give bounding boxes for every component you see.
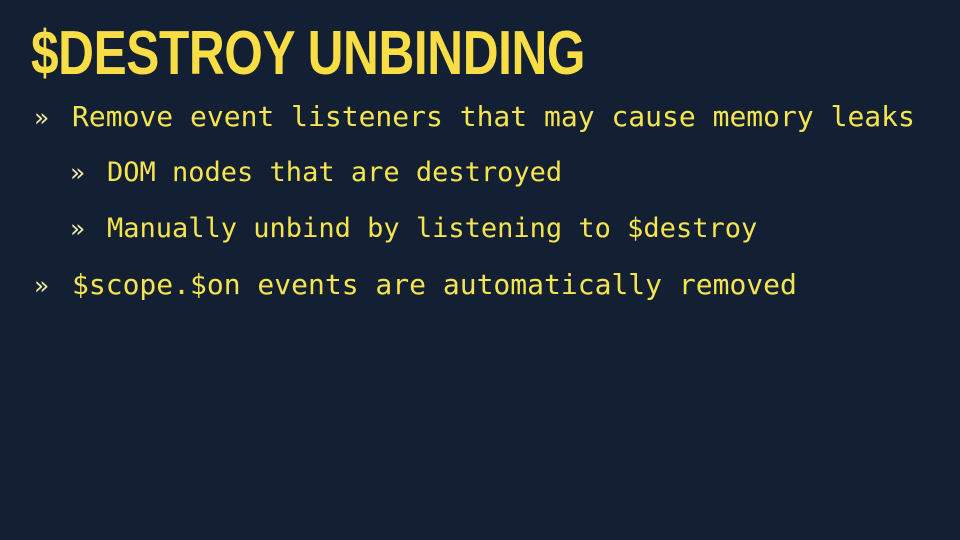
bullet-marker-icon: » <box>34 272 72 300</box>
presentation-slide: $destroy unbinding » Remove event listen… <box>0 0 960 540</box>
list-item-label: $scope.$on events are automatically remo… <box>72 270 797 300</box>
list-item: » $scope.$on events are automatically re… <box>0 270 960 326</box>
list-item-label: Remove event listeners that may cause me… <box>72 102 915 132</box>
list-item: » DOM nodes that are destroyed <box>0 158 960 214</box>
bullet-marker-icon: » <box>70 215 107 243</box>
page-title: $destroy unbinding <box>31 22 585 86</box>
list-item-label: Manually unbind by listening to $destroy <box>107 214 757 244</box>
bullet-marker-icon: » <box>70 159 107 187</box>
list-item: » Manually unbind by listening to $destr… <box>0 214 960 270</box>
list-item: » Remove event listeners that may cause … <box>0 102 960 158</box>
list-item-label: DOM nodes that are destroyed <box>107 158 562 188</box>
bullet-list: » Remove event listeners that may cause … <box>0 102 960 326</box>
bullet-marker-icon: » <box>34 104 72 132</box>
